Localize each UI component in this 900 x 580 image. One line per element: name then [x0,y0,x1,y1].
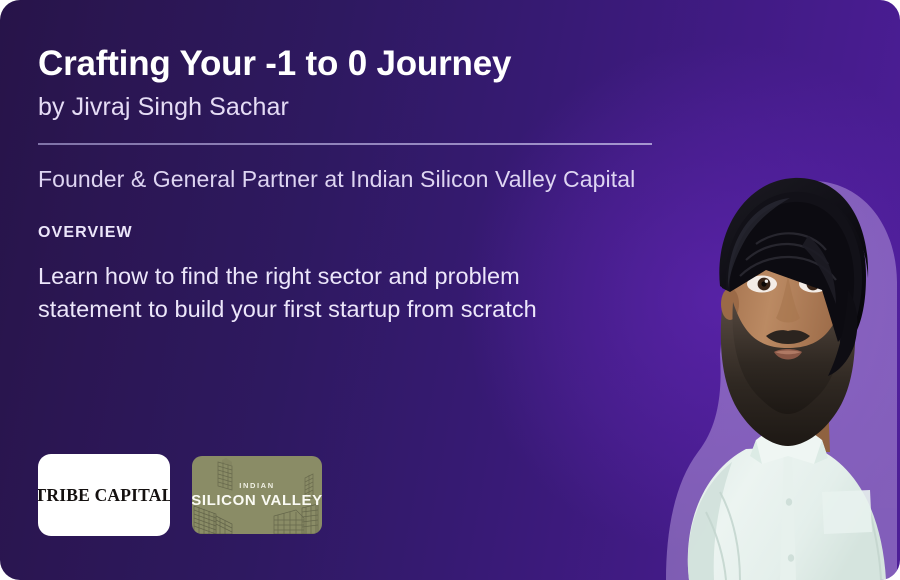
divider [38,143,652,145]
text-column: Crafting Your -1 to 0 Journey by Jivraj … [38,44,663,327]
speaker-role: Founder & General Partner at Indian Sili… [38,165,663,194]
logo-tribe-capital-label: TRIBE CAPITAL [38,485,170,506]
course-promo-card: Crafting Your -1 to 0 Journey by Jivraj … [0,0,900,580]
logo-isv-line2: SILICON VALLEY [192,493,322,508]
logo-indian-silicon-valley: INDIAN SILICON VALLEY [192,456,322,534]
logo-isv-text: INDIAN SILICON VALLEY [192,482,322,508]
logo-isv-line1: INDIAN [192,482,322,490]
page-title: Crafting Your -1 to 0 Journey [38,44,663,83]
logo-tribe-capital: TRIBE CAPITAL [38,454,170,536]
speaker-byline: by Jivraj Singh Sachar [38,92,663,122]
sponsor-logo-row: TRIBE CAPITAL [38,454,322,536]
overview-description: Learn how to find the right sector and p… [38,260,598,327]
overview-section-label: OVERVIEW [38,224,663,242]
